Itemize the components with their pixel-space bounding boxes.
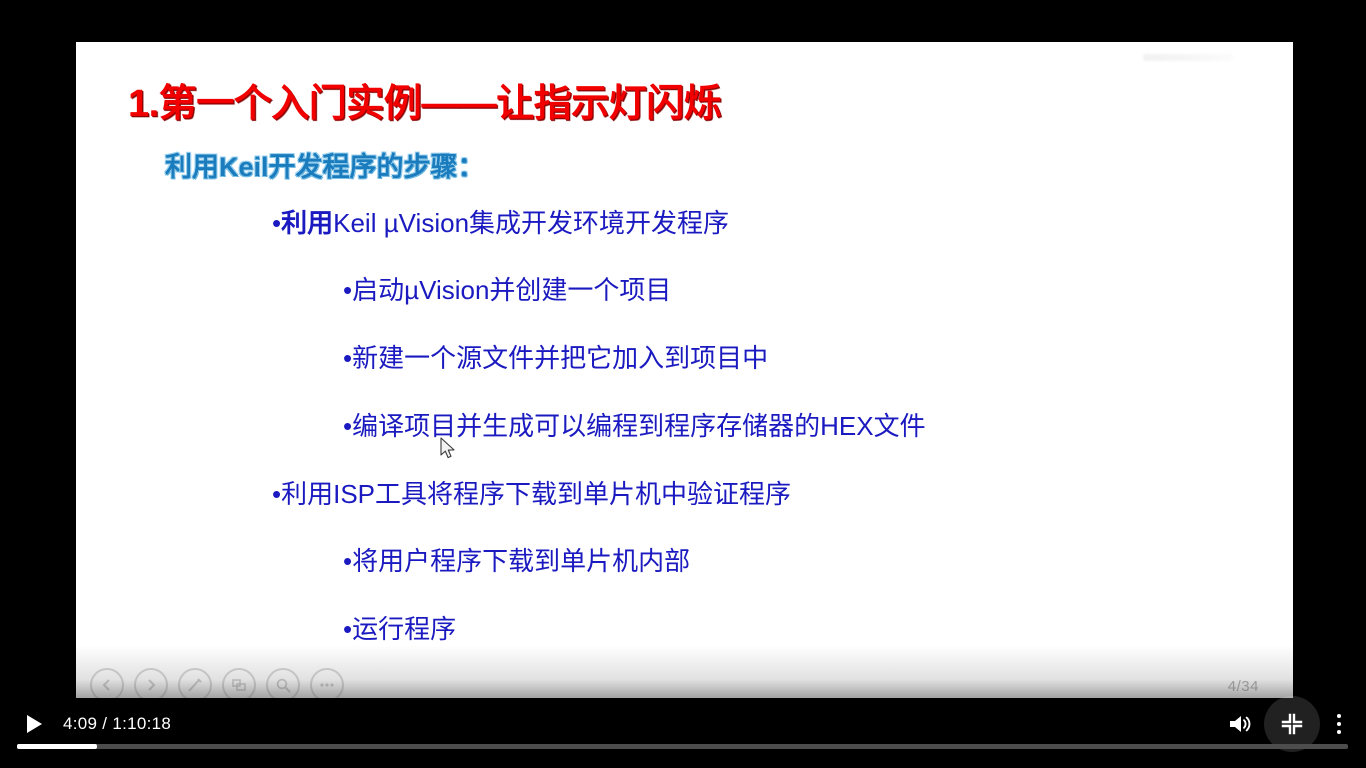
ppt-previous-icon [90, 668, 124, 702]
menu-dot [1337, 722, 1341, 726]
bullet-item: •启动µVision并创建一个项目 [76, 277, 1293, 345]
bullet-item: •利用ISP工具将程序下载到单片机中验证程序 [76, 481, 1293, 548]
volume-button[interactable] [1218, 702, 1262, 746]
bullet-dot-icon: • [343, 546, 352, 576]
ppt-ghost-toolbar [90, 668, 344, 702]
bullet-text: 利用ISP工具将程序下载到单片机中验证程序 [281, 479, 791, 509]
presentation-slide: 1.第一个入门实例——让指示灯闪烁 利用Keil开发程序的步骤： •利用Keil… [76, 42, 1293, 728]
volume-icon [1227, 712, 1253, 736]
progress-bar-fill [17, 744, 97, 749]
bullet-dot-icon: • [343, 343, 352, 373]
exit-fullscreen-icon [1280, 712, 1304, 736]
video-player: 1.第一个入门实例——让指示灯闪烁 利用Keil开发程序的步骤： •利用Keil… [0, 0, 1366, 768]
slide-subtitle: 利用Keil开发程序的步骤： [165, 145, 485, 184]
bullet-text: 编译项目并生成可以编程到程序存储器的HEX文件 [352, 411, 925, 441]
slide-page-number: 4/34 [1228, 678, 1259, 695]
bullet-text: 运行程序 [352, 614, 456, 644]
bullet-text: 新建一个源文件并把它加入到项目中 [352, 343, 768, 373]
bullet-item: •利用Keil µVision集成开发环境开发程序 [76, 210, 1293, 277]
more-menu-button[interactable] [1322, 702, 1356, 746]
bullet-text: 启动µVision并创建一个项目 [352, 275, 671, 305]
ppt-zoom-icon [266, 668, 300, 702]
ppt-slides-menu-icon [222, 668, 256, 702]
progress-bar[interactable] [17, 744, 1348, 749]
bullet-dot-icon: • [343, 275, 352, 305]
bullet-dot-icon: • [343, 411, 352, 441]
player-controls-left: 4:09 / 1:10:18 [0, 698, 171, 750]
bullet-item: •将用户程序下载到单片机内部 [76, 548, 1293, 616]
bullet-item: •新建一个源文件并把它加入到项目中 [76, 345, 1293, 413]
menu-dot [1337, 714, 1341, 718]
bullet-dot-icon: • [272, 479, 281, 509]
bullet-text: 将用户程序下载到单片机内部 [352, 546, 690, 576]
time-display: 4:09 / 1:10:18 [63, 714, 171, 734]
play-button[interactable] [12, 702, 56, 746]
slide-title: 1.第一个入门实例——让指示灯闪烁 [128, 72, 721, 127]
player-control-bar: 4:09 / 1:10:18 [0, 698, 1366, 768]
ppt-pen-icon [178, 668, 212, 702]
slide-bullet-list: •利用Keil µVision集成开发环境开发程序 •启动µVision并创建一… [76, 210, 1293, 684]
player-controls-right [1218, 698, 1366, 750]
bullet-item: •编译项目并生成可以编程到程序存储器的HEX文件 [76, 413, 1293, 481]
ppt-more-options-icon [310, 668, 344, 702]
play-icon [23, 713, 45, 735]
slide-artifact [1143, 54, 1233, 61]
bullet-dot-icon: • [343, 614, 352, 644]
bullet-text: Keil µVision集成开发环境开发程序 [333, 208, 729, 238]
bullet-dot-icon: • [272, 208, 281, 238]
ppt-next-icon [134, 668, 168, 702]
menu-dot [1337, 730, 1341, 734]
bullet-text-bold: 利用 [281, 208, 333, 238]
